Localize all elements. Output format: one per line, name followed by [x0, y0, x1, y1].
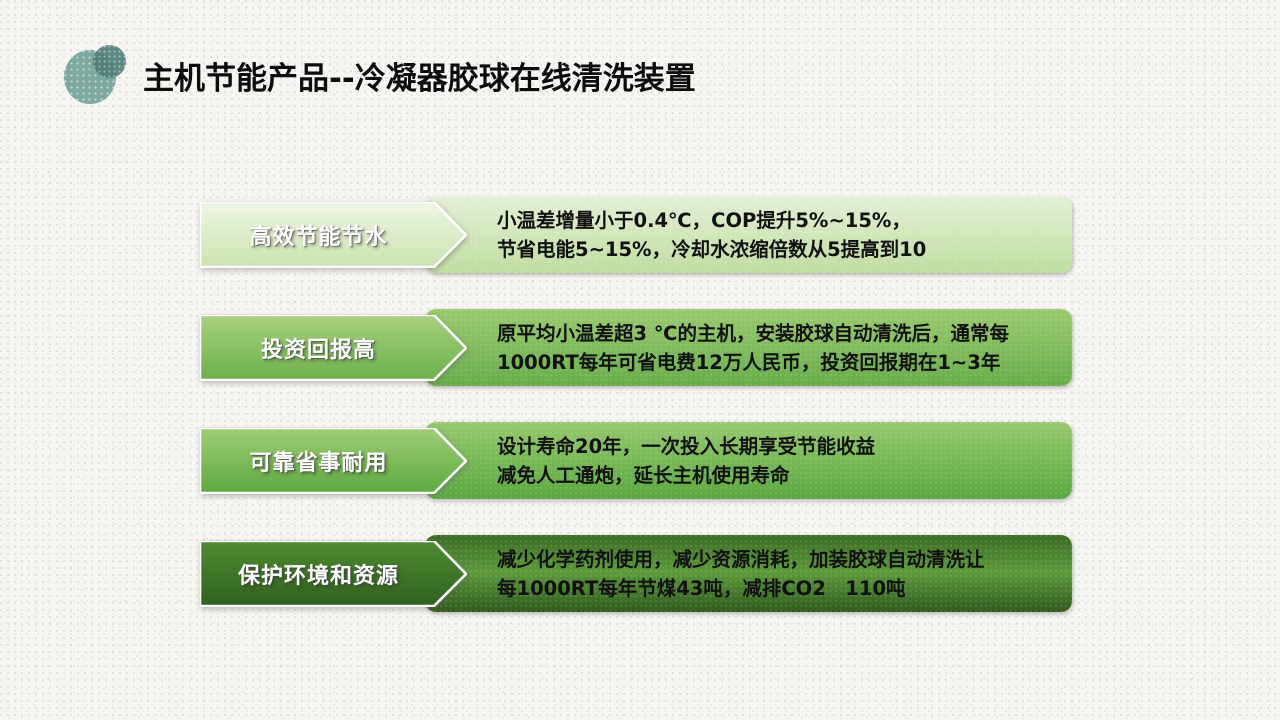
feature-row: 减少化学药剂使用，减少资源消耗，加装胶球自动清洗让 每1000RT每年节煤43吨…: [0, 529, 1280, 619]
feature-chevron-shape[interactable]: [200, 315, 467, 381]
feature-content-panel: 原平均小温差超3 ℃的主机，安装胶球自动清洗后，通常每 1000RT每年可省电费…: [425, 309, 1072, 386]
slide-title-bar: 主机节能产品--冷凝器胶球在线清洗装置: [0, 38, 1280, 110]
feature-chevron-shape[interactable]: [200, 428, 467, 494]
feature-chevron-shape[interactable]: [200, 202, 467, 268]
title-decoration-circles: [60, 42, 144, 108]
feature-content-panel: 设计寿命20年，一次投入长期享受节能收益 减免人工通炮，延长主机使用寿命: [425, 422, 1072, 499]
feature-description: 原平均小温差超3 ℃的主机，安装胶球自动清洗后，通常每 1000RT每年可省电费…: [497, 319, 1009, 377]
feature-chevron-shape[interactable]: [200, 541, 467, 607]
feature-description: 小温差增量小于0.4℃，COP提升5%~15%， 节省电能5~15%，冷却水浓缩…: [497, 206, 926, 264]
feature-description: 设计寿命20年，一次投入长期享受节能收益 减免人工通炮，延长主机使用寿命: [497, 432, 875, 490]
feature-row: 设计寿命20年，一次投入长期享受节能收益 减免人工通炮，延长主机使用寿命可靠省事…: [0, 416, 1280, 506]
decoration-circle-small-icon: [93, 45, 126, 78]
feature-row: 原平均小温差超3 ℃的主机，安装胶球自动清洗后，通常每 1000RT每年可省电费…: [0, 303, 1280, 393]
feature-content-panel: 小温差增量小于0.4℃，COP提升5%~15%， 节省电能5~15%，冷却水浓缩…: [425, 196, 1072, 273]
page-title: 主机节能产品--冷凝器胶球在线清洗装置: [143, 60, 696, 98]
feature-row: 小温差增量小于0.4℃，COP提升5%~15%， 节省电能5~15%，冷却水浓缩…: [0, 190, 1280, 280]
feature-content-panel: 减少化学药剂使用，减少资源消耗，加装胶球自动清洗让 每1000RT每年节煤43吨…: [425, 535, 1072, 612]
feature-description: 减少化学药剂使用，减少资源消耗，加装胶球自动清洗让 每1000RT每年节煤43吨…: [497, 545, 985, 603]
